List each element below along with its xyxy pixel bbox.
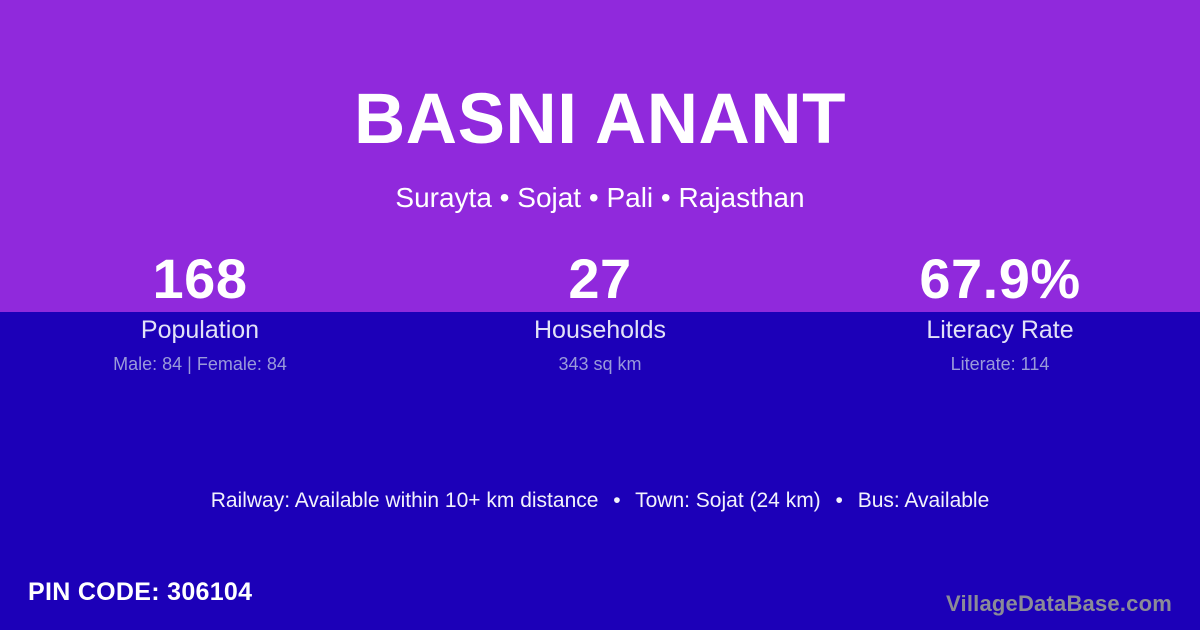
breadcrumb: Surayta • Sojat • Pali • Rajasthan	[0, 182, 1200, 214]
stat-detail: 343 sq km	[400, 351, 800, 377]
stat-value: 27	[400, 250, 800, 308]
stat-literacy-rate: 67.9% Literacy Rate Literate: 114	[800, 250, 1200, 377]
stats-row: 168 Population Male: 84 | Female: 84 27 …	[0, 250, 1200, 377]
village-info-card: BASNI ANANT Surayta • Sojat • Pali • Raj…	[0, 0, 1200, 630]
pin-code: PIN CODE: 306104	[28, 576, 252, 608]
amenity-railway: Railway: Available within 10+ km distanc…	[211, 489, 599, 512]
amenities-line: Railway: Available within 10+ km distanc…	[0, 487, 1200, 515]
page-title: BASNI ANANT	[0, 84, 1200, 155]
stat-label: Households	[400, 313, 800, 347]
amenity-town: Town: Sojat (24 km)	[635, 489, 821, 512]
stat-value: 168	[0, 250, 400, 308]
stat-households: 27 Households 343 sq km	[400, 250, 800, 377]
stat-label: Literacy Rate	[800, 313, 1200, 347]
amenity-bus: Bus: Available	[858, 489, 990, 512]
stat-detail: Male: 84 | Female: 84	[0, 351, 400, 377]
stat-detail: Literate: 114	[800, 351, 1200, 377]
stat-value: 67.9%	[800, 250, 1200, 308]
stat-label: Population	[0, 313, 400, 347]
bullet-separator-icon: •	[604, 487, 629, 515]
site-brand: VillageDataBase.com	[946, 590, 1172, 618]
bullet-separator-icon: •	[827, 487, 852, 515]
stat-population: 168 Population Male: 84 | Female: 84	[0, 250, 400, 377]
